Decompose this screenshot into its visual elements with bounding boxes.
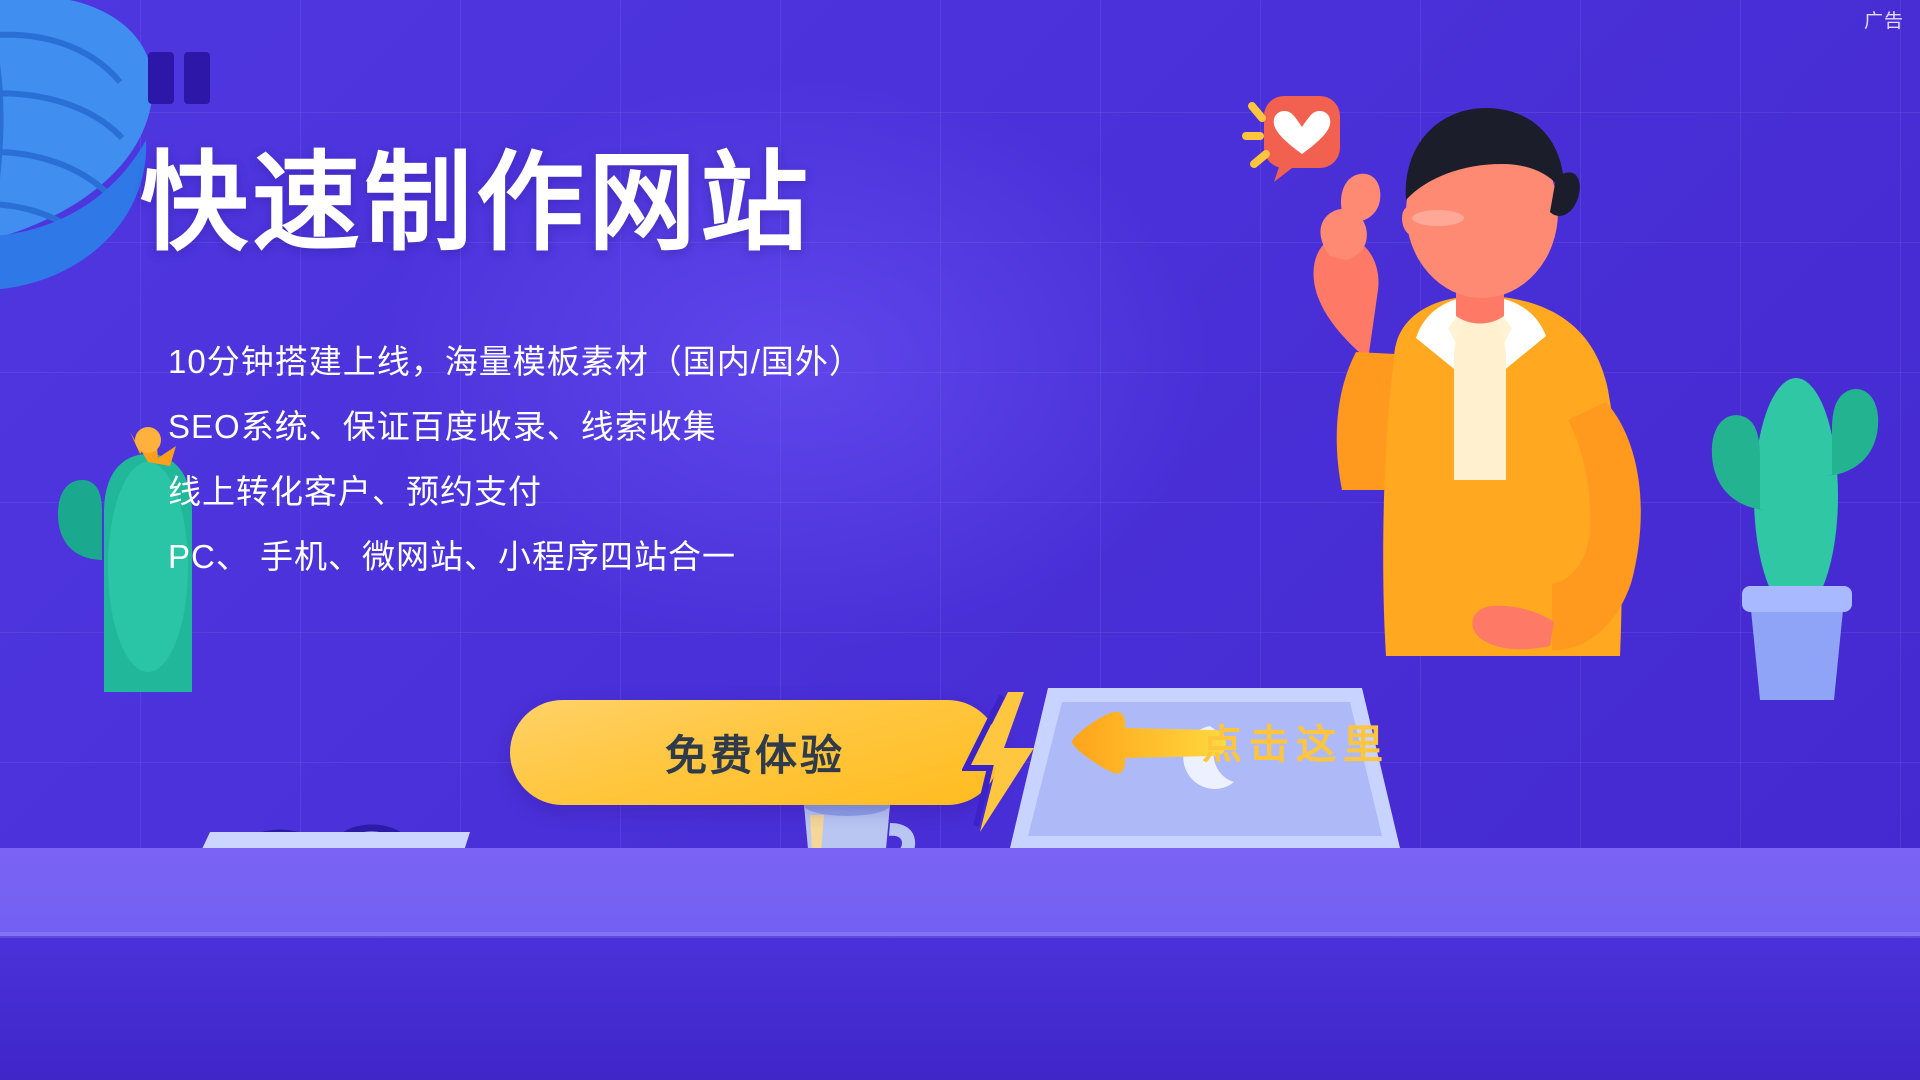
list-item: PC、 手机、微网站、小程序四站合一 <box>168 540 988 573</box>
list-item: 线上转化客户、预约支付 <box>168 475 988 508</box>
advertisement-banner[interactable]: 快速制作网站 10分钟搭建上线，海量模板素材（国内/国外） SEO系统、保证百度… <box>0 0 1920 1080</box>
ad-label: 广告 <box>1864 6 1904 33</box>
free-trial-button-label: 免费体验 <box>665 722 845 783</box>
desk-edge <box>0 932 1920 938</box>
list-item: 10分钟搭建上线，海量模板素材（国内/国外） <box>168 345 988 378</box>
feature-list: 10分钟搭建上线，海量模板素材（国内/国外） SEO系统、保证百度收录、线索收集… <box>168 345 988 605</box>
click-here-hint: 点击这里 <box>1202 712 1390 770</box>
person-illustration <box>1180 60 1740 720</box>
list-item: SEO系统、保证百度收录、线索收集 <box>168 410 988 443</box>
quote-mark-decoration <box>148 52 216 104</box>
lightning-bolt-icon <box>962 692 1042 832</box>
desk-surface <box>0 848 1920 1080</box>
page-title: 快速制作网站 <box>140 145 812 262</box>
free-trial-button[interactable]: 免费体验 <box>510 700 1000 805</box>
